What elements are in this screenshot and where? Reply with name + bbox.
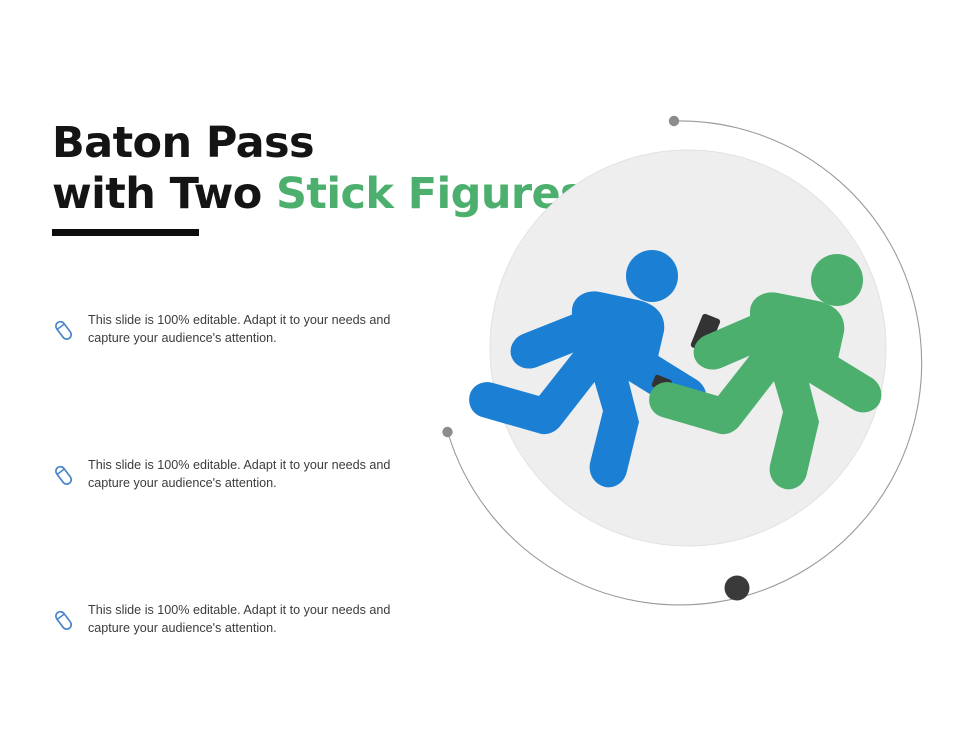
slide-canvas: Baton Pass with Two Stick Figures This s… <box>0 0 960 720</box>
title-line-2-plain: with Two <box>52 169 276 219</box>
top-gray-dot <box>669 116 679 126</box>
list-item-text: This slide is 100% editable. Adapt it to… <box>88 312 418 347</box>
list-item-text: This slide is 100% editable. Adapt it to… <box>88 457 418 492</box>
left-gray-dot <box>442 427 452 437</box>
bullet-list: This slide is 100% editable. Adapt it to… <box>48 312 428 747</box>
bottom-dark-dot <box>725 576 750 601</box>
pencil-icon <box>50 461 78 491</box>
list-item[interactable]: This slide is 100% editable. Adapt it to… <box>48 312 428 362</box>
pencil-icon <box>50 606 78 636</box>
list-item[interactable]: This slide is 100% editable. Adapt it to… <box>48 602 428 652</box>
title-underline-bar <box>52 229 199 236</box>
baton-pass-illustration <box>420 95 940 625</box>
list-item[interactable]: This slide is 100% editable. Adapt it to… <box>48 457 428 507</box>
list-item-text: This slide is 100% editable. Adapt it to… <box>88 602 418 637</box>
pencil-icon <box>50 316 78 346</box>
